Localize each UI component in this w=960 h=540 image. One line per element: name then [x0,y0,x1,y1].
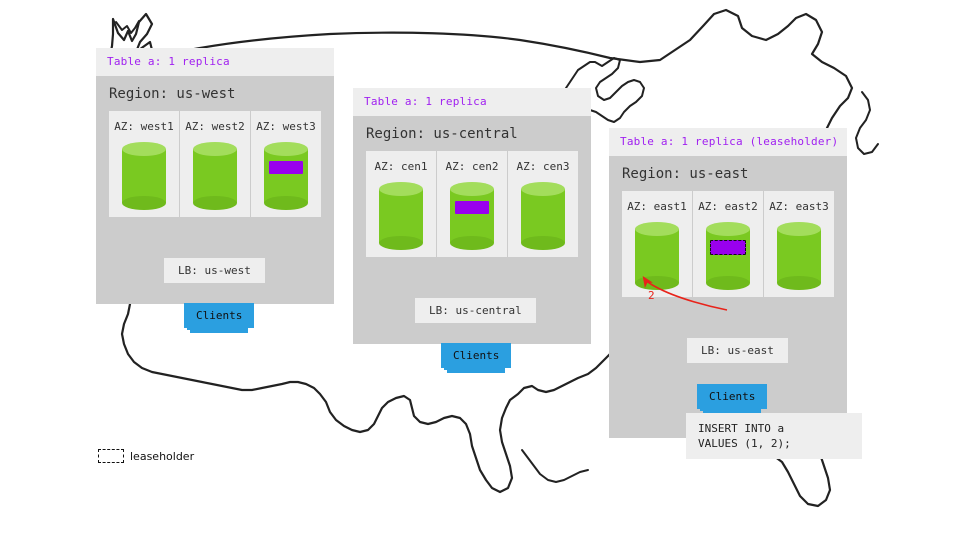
az-label-east2: AZ: east2 [693,200,763,213]
az-row-us-west: AZ: west1 AZ: west2 AZ [109,111,321,217]
clients-button-us-east[interactable]: Clients [697,384,767,409]
replica-chip-west3 [269,161,303,174]
az-label-cen2: AZ: cen2 [437,160,507,173]
region-title-us-east: Region: us-east [609,156,847,191]
clients-label-us-west: Clients [184,303,254,328]
az-label-west3: AZ: west3 [251,120,321,133]
clients-label-us-central: Clients [441,343,511,368]
clients-button-us-west[interactable]: Clients [184,303,254,328]
clients-button-us-central[interactable]: Clients [441,343,511,368]
az-label-cen1: AZ: cen1 [366,160,436,173]
replica-cylinder-west3 [264,142,308,210]
load-balancer-us-west[interactable]: LB: us-west [164,258,265,283]
region-title-us-west: Region: us-west [96,76,334,111]
az-cell-cen3[interactable]: AZ: cen3 [507,151,578,257]
az-row-us-central: AZ: cen1 AZ: cen2 [366,151,578,257]
az-cell-west3[interactable]: AZ: west3 [250,111,321,217]
region-title-us-central: Region: us-central [353,116,591,151]
load-balancer-us-central[interactable]: LB: us-central [415,298,536,323]
replica-cylinder-cen2 [450,182,494,250]
arrow-step-label: 2 [648,289,655,302]
diagram-canvas: Table a: 1 replica Region: us-west AZ: w… [0,0,960,540]
replica-chip-cen2 [455,201,489,214]
dashed-rect-icon [98,449,124,463]
region-header-us-west: Table a: 1 replica [96,48,334,76]
az-cell-west1[interactable]: AZ: west1 [109,111,179,217]
az-cell-cen2[interactable]: AZ: cen2 [436,151,507,257]
replica-cylinder-west2 [193,142,237,210]
az-label-east1: AZ: east1 [622,200,692,213]
az-cell-east3[interactable]: AZ: east3 [763,191,834,297]
legend-label: leaseholder [130,450,194,463]
replica-cylinder-west1 [122,142,166,210]
replica-cylinder-cen3 [521,182,565,250]
az-cell-west2[interactable]: AZ: west2 [179,111,250,217]
az-label-west1: AZ: west1 [109,120,179,133]
sql-statement-note: INSERT INTO a VALUES (1, 2); [686,413,862,459]
az-label-east3: AZ: east3 [764,200,834,213]
region-header-us-east: Table a: 1 replica (leaseholder) [609,128,847,156]
replica-cylinder-cen1 [379,182,423,250]
region-panel-us-west: Table a: 1 replica Region: us-west AZ: w… [96,48,334,304]
replica-cylinder-east3 [777,222,821,290]
region-header-us-central: Table a: 1 replica [353,88,591,116]
az-cell-cen1[interactable]: AZ: cen1 [366,151,436,257]
region-panel-us-central: Table a: 1 replica Region: us-central AZ… [353,88,591,344]
load-balancer-us-east[interactable]: LB: us-east [687,338,788,363]
leaseholder-chip-east2 [710,240,746,255]
clients-label-us-east: Clients [697,384,767,409]
legend-leaseholder: leaseholder [98,449,194,463]
az-label-west2: AZ: west2 [180,120,250,133]
az-label-cen3: AZ: cen3 [508,160,578,173]
